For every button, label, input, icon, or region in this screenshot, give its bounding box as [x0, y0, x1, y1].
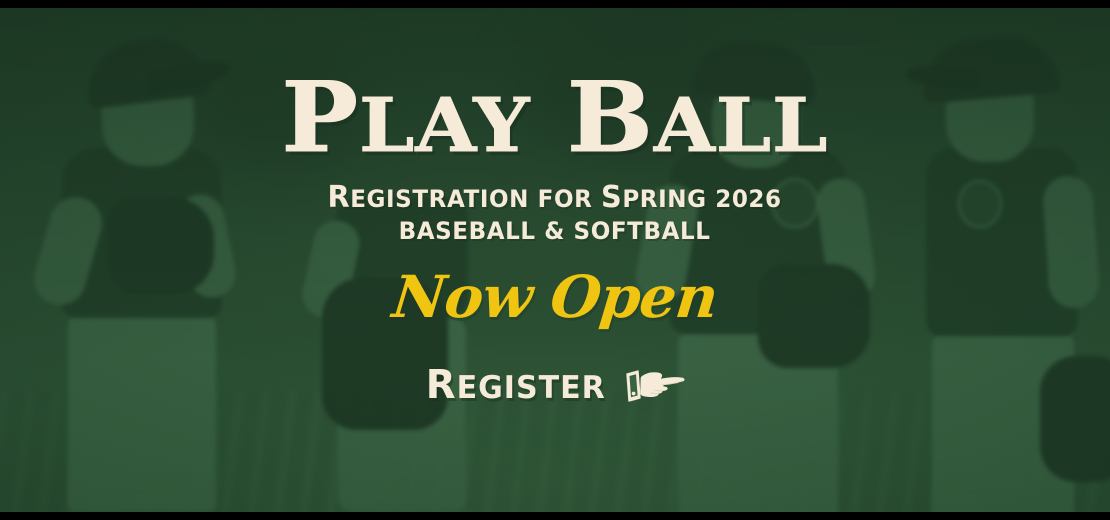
headline-play-rest: LAY — [359, 83, 530, 169]
banner-content: PLAY BALL REGISTRATION FOR SPRING 2026 B… — [0, 8, 1110, 512]
register-label-cap: R — [426, 362, 457, 408]
subtitle-line-2: BASEBALL & SOFTBALL — [328, 217, 782, 246]
register-label: REGISTER — [426, 362, 606, 408]
subtitle-line-1-cap: R — [328, 180, 351, 215]
register-label-rest: EGISTER — [457, 370, 606, 406]
subtitle-line-1: REGISTRATION FOR SPRING 2026 — [328, 180, 782, 215]
headline-ball-rest: ALL — [654, 83, 828, 169]
pointing-hand-icon — [625, 365, 687, 405]
subtitle-line-1-rest-2: PRING 2026 — [623, 185, 782, 213]
page-title: PLAY BALL — [282, 76, 829, 160]
headline-play: P — [282, 61, 360, 174]
register-button[interactable]: REGISTER — [423, 362, 687, 408]
subtitle-line-1-rest: EGISTRATION FOR — [351, 185, 602, 213]
headline-ball: B — [567, 61, 654, 174]
letterbox-bar-top — [0, 0, 1110, 8]
subtitle-line-1-cap-2: S — [601, 180, 622, 215]
letterbox-bar-bottom — [0, 512, 1110, 520]
play-ball-registration-banner: PLAY BALL REGISTRATION FOR SPRING 2026 B… — [0, 0, 1110, 520]
status-badge: Now Open — [390, 268, 720, 326]
subtitle: REGISTRATION FOR SPRING 2026 BASEBALL & … — [328, 180, 782, 246]
